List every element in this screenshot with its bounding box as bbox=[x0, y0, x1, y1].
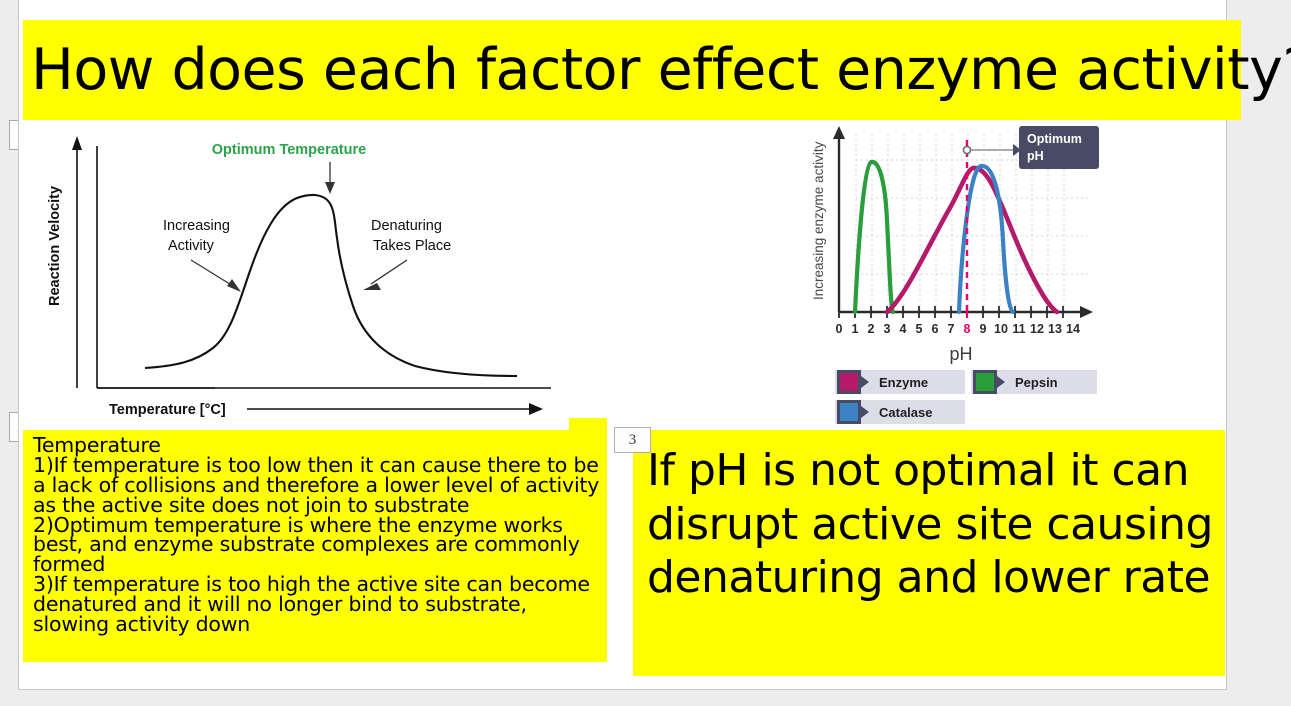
ph-chart-xlabel: pH bbox=[949, 344, 972, 364]
ph-tick-14: 14 bbox=[1066, 322, 1080, 336]
denaturing-label-line1: Denaturing bbox=[371, 218, 442, 234]
ph-text-box[interactable]: If pH is not optimal it can disrupt acti… bbox=[633, 430, 1225, 676]
page-title: How does each factor effect enzyme activ… bbox=[31, 42, 1291, 99]
legend-swatch-pepsin bbox=[976, 373, 994, 391]
increasing-activity-arrowhead bbox=[227, 279, 241, 292]
slide-canvas[interactable]: How does each factor effect enzyme activ… bbox=[18, 0, 1227, 690]
optimum-temp-arrowhead bbox=[325, 182, 335, 194]
optimum-ph-callout: Optimum pH bbox=[1013, 126, 1099, 169]
ph-tick-1: 1 bbox=[852, 322, 859, 336]
ph-x-tick-labels: 0 1 2 3 4 5 6 7 8 9 10 11 12 13 14 bbox=[836, 322, 1080, 336]
ph-tick-3: 3 bbox=[884, 322, 891, 336]
legend-label-catalase: Catalase bbox=[879, 405, 932, 420]
x-axis-arrowhead bbox=[529, 403, 543, 415]
optimum-ph-callout-line1: Optimum bbox=[1027, 132, 1082, 146]
ph-tick-4: 4 bbox=[900, 322, 907, 336]
ph-chart-svg: Optimum pH 0 1 2 3 4 5 6 7 8 9 10 11 12 … bbox=[801, 120, 1101, 425]
ph-text-body: If pH is not optimal it can disrupt acti… bbox=[647, 444, 1215, 605]
ph-tick-12: 12 bbox=[1030, 322, 1044, 336]
ph-tick-7: 7 bbox=[948, 322, 955, 336]
increasing-activity-label-line2: Activity bbox=[168, 238, 215, 254]
optimum-temperature-label: Optimum Temperature bbox=[212, 142, 366, 158]
y-axis-arrowhead bbox=[72, 136, 82, 150]
ph-tick-6: 6 bbox=[932, 322, 939, 336]
legend-label-pepsin: Pepsin bbox=[1015, 375, 1058, 390]
ph-tick-9: 9 bbox=[980, 322, 987, 336]
ph-tick-2: 2 bbox=[868, 322, 875, 336]
temperature-chart: Optimum Temperature Increasing Activity … bbox=[35, 126, 567, 418]
legend-swatch-enzyme bbox=[840, 373, 858, 391]
ph-tick-8-highlighted: 8 bbox=[964, 322, 971, 336]
temperature-x-axis bbox=[97, 146, 215, 388]
ph-tick-13: 13 bbox=[1048, 322, 1062, 336]
denaturing-label-line2: Takes Place bbox=[373, 238, 451, 254]
ph-x-axis-arrowhead bbox=[1080, 306, 1093, 318]
temperature-chart-svg: Optimum Temperature Increasing Activity … bbox=[35, 126, 567, 418]
temperature-chart-ylabel: Reaction Velocity bbox=[47, 186, 63, 306]
ph-optimum-marker-dot bbox=[963, 146, 970, 153]
ph-tick-11: 11 bbox=[1012, 322, 1025, 336]
ph-tick-10: 10 bbox=[994, 322, 1008, 336]
ph-chart-ylabel: Increasing enzyme activity bbox=[811, 141, 826, 300]
temperature-textbox-tab bbox=[569, 418, 607, 432]
optimum-ph-callout-line2: pH bbox=[1027, 149, 1044, 163]
slide-number-badge[interactable]: 3 bbox=[614, 427, 651, 453]
temperature-chart-xlabel: Temperature [°C] bbox=[109, 402, 226, 418]
temperature-text-box[interactable]: Temperature 1)If temperature is too low … bbox=[23, 430, 607, 662]
ph-curve-pepsin bbox=[855, 162, 893, 312]
ph-chart-legend: Enzyme Pepsin Catalase bbox=[835, 370, 1097, 424]
increasing-activity-label-line1: Increasing bbox=[163, 218, 230, 234]
legend-swatch-catalase bbox=[840, 403, 858, 421]
slide-title-box[interactable]: How does each factor effect enzyme activ… bbox=[23, 20, 1241, 120]
ph-tick-5: 5 bbox=[916, 322, 923, 336]
slide-number-value: 3 bbox=[629, 432, 637, 449]
ph-tick-0: 0 bbox=[836, 322, 843, 336]
temperature-text-body: Temperature 1)If temperature is too low … bbox=[33, 436, 601, 635]
ph-y-axis-arrowhead bbox=[833, 126, 845, 139]
ph-chart: Optimum pH 0 1 2 3 4 5 6 7 8 9 10 11 12 … bbox=[801, 120, 1101, 425]
legend-label-enzyme: Enzyme bbox=[879, 375, 928, 390]
